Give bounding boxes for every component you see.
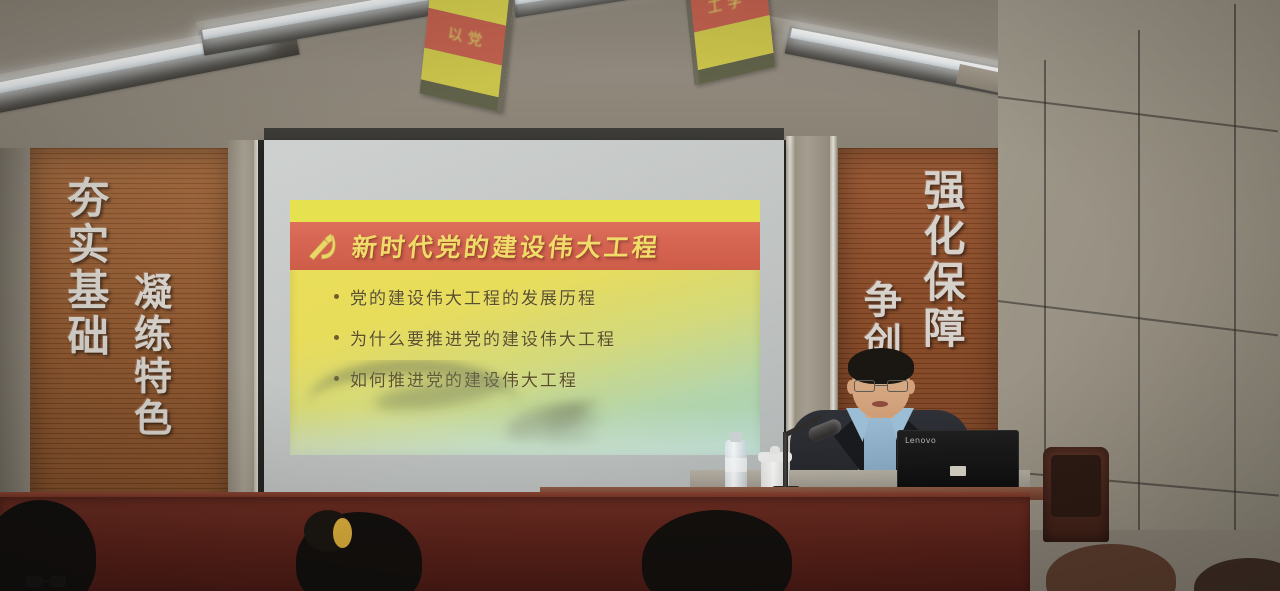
slide-top-band [290,200,760,222]
audience-scrunchie [333,518,352,548]
bullet-dot-icon [334,294,339,299]
banner-right-text: 工学 [707,0,748,15]
laptop-sticker [950,466,966,476]
water-bottle-cap [730,432,742,442]
chair-backrest [1051,455,1101,517]
slide-bullet-text: 党的建设伟大工程的发展历程 [350,284,597,309]
speaker-ear-right [907,380,915,394]
slide-bullet-text: 为什么要推进党的建设伟大工程 [350,325,616,350]
audience-bench [0,497,1030,591]
wall-panel-tiles-right [998,0,1280,530]
audience-glasses-icon [26,576,66,587]
slide-title: 新时代党的建设伟大工程 [350,228,662,264]
banner-left-text: 以党 [447,25,488,49]
speaker-hair [848,348,914,384]
wall-text-left-2: 凝练特色 [128,272,171,440]
microphone-stand [783,432,788,494]
water-bottle-label [725,458,747,472]
speaker-mouth [872,401,888,407]
wall-text-left-1: 夯实基础 [62,176,109,360]
bullet-dot-icon [334,335,339,340]
lecture-hall-photo: 以党 工学 夯实基础 凝练特色 强化保障 争创 [0,0,1280,591]
party-emblem-icon [302,229,344,263]
wall-left-edge [0,148,32,508]
tea-cup-knob [770,446,780,454]
laptop-brand-label: Lenovo [905,436,936,445]
ceiling-banner-left: 以党 [419,0,514,112]
presentation-slide: 新时代党的建设伟大工程 党的建设伟大工程的发展历程 为什么要推进党的建设伟大工程… [290,200,760,455]
slide-bullet-item: 党的建设伟大工程的发展历程 [334,284,734,309]
slide-title-banner: 新时代党的建设伟大工程 [290,222,760,270]
audience-head [1046,544,1176,591]
wall-text-right-1: 强化保障 [918,168,965,352]
projection-screen: 新时代党的建设伟大工程 党的建设伟大工程的发展历程 为什么要推进党的建设伟大工程… [264,140,784,492]
slide-background-artwork [290,360,760,455]
chair [1043,447,1109,542]
slide-glare [290,407,760,455]
speaker-glasses-icon [854,380,908,392]
slide-bullet-item: 为什么要推进党的建设伟大工程 [334,325,734,350]
audience-head [1194,558,1280,591]
